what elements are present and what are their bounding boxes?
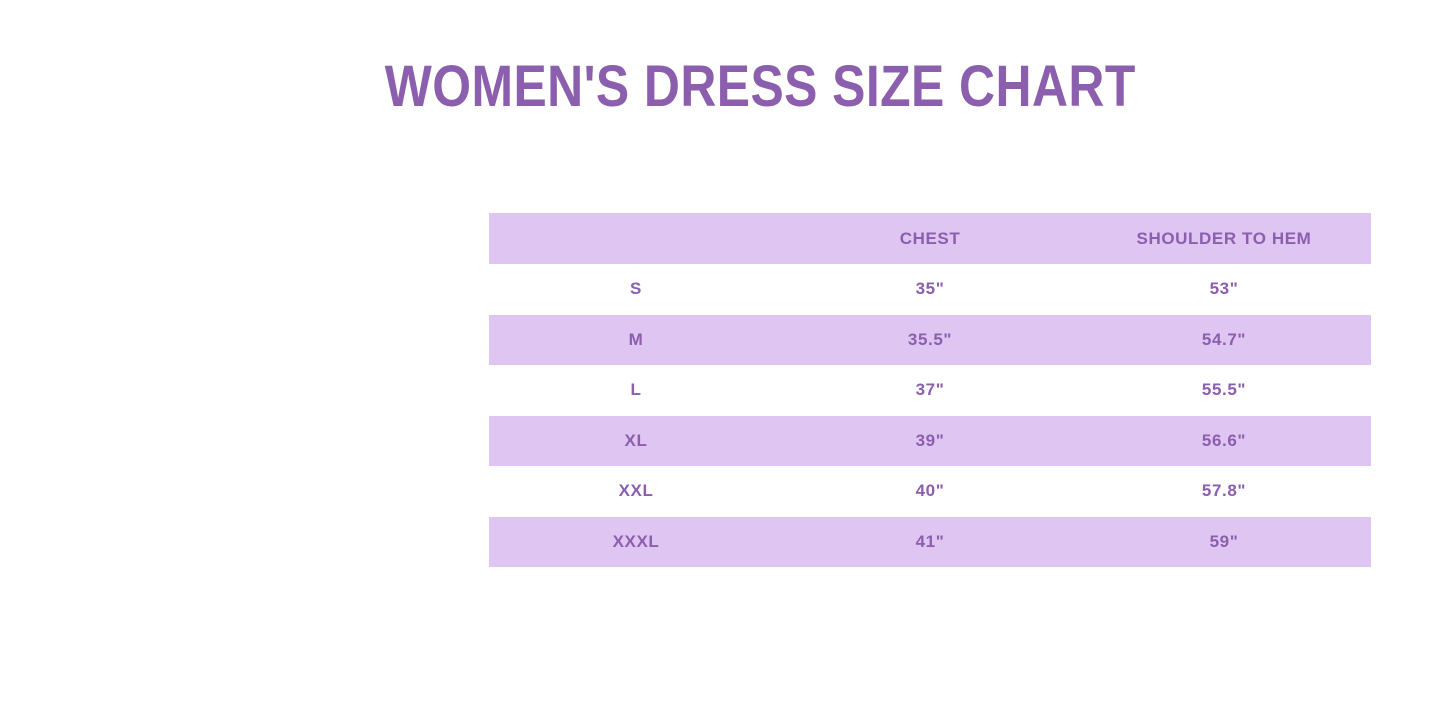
cell-chest: 41" [783, 517, 1077, 568]
cell-chest: 35" [783, 264, 1077, 315]
cell-chest: 39" [783, 416, 1077, 467]
cell-size: L [489, 365, 783, 416]
size-chart-table: CHEST SHOULDER TO HEM S 35" 53" M 35.5" … [489, 213, 1371, 567]
cell-chest: 35.5" [783, 315, 1077, 366]
cell-shoulder-to-hem: 54.7" [1077, 315, 1371, 366]
table-row: XXL 40" 57.8" [489, 466, 1371, 517]
table-header-row: CHEST SHOULDER TO HEM [489, 213, 1371, 264]
cell-size: M [489, 315, 783, 366]
table-row: XL 39" 56.6" [489, 416, 1371, 467]
cell-shoulder-to-hem: 59" [1077, 517, 1371, 568]
cell-shoulder-to-hem: 57.8" [1077, 466, 1371, 517]
column-header-shoulder-to-hem: SHOULDER TO HEM [1077, 213, 1371, 264]
size-chart-page: WOMEN'S DRESS SIZE CHART CHEST SHOULDER … [0, 0, 1445, 723]
page-title: WOMEN'S DRESS SIZE CHART [0, 52, 1445, 122]
table-body: S 35" 53" M 35.5" 54.7" L 37" 55.5" XL 3… [489, 264, 1371, 567]
cell-shoulder-to-hem: 55.5" [1077, 365, 1371, 416]
cell-size: XXL [489, 466, 783, 517]
cell-size: S [489, 264, 783, 315]
table-row: M 35.5" 54.7" [489, 315, 1371, 366]
table-row: XXXL 41" 59" [489, 517, 1371, 568]
table-header: CHEST SHOULDER TO HEM [489, 213, 1371, 264]
column-header-size [489, 213, 783, 264]
cell-shoulder-to-hem: 56.6" [1077, 416, 1371, 467]
cell-chest: 37" [783, 365, 1077, 416]
table-row: S 35" 53" [489, 264, 1371, 315]
cell-size: XXXL [489, 517, 783, 568]
column-header-chest: CHEST [783, 213, 1077, 264]
cell-chest: 40" [783, 466, 1077, 517]
cell-size: XL [489, 416, 783, 467]
table-row: L 37" 55.5" [489, 365, 1371, 416]
cell-shoulder-to-hem: 53" [1077, 264, 1371, 315]
